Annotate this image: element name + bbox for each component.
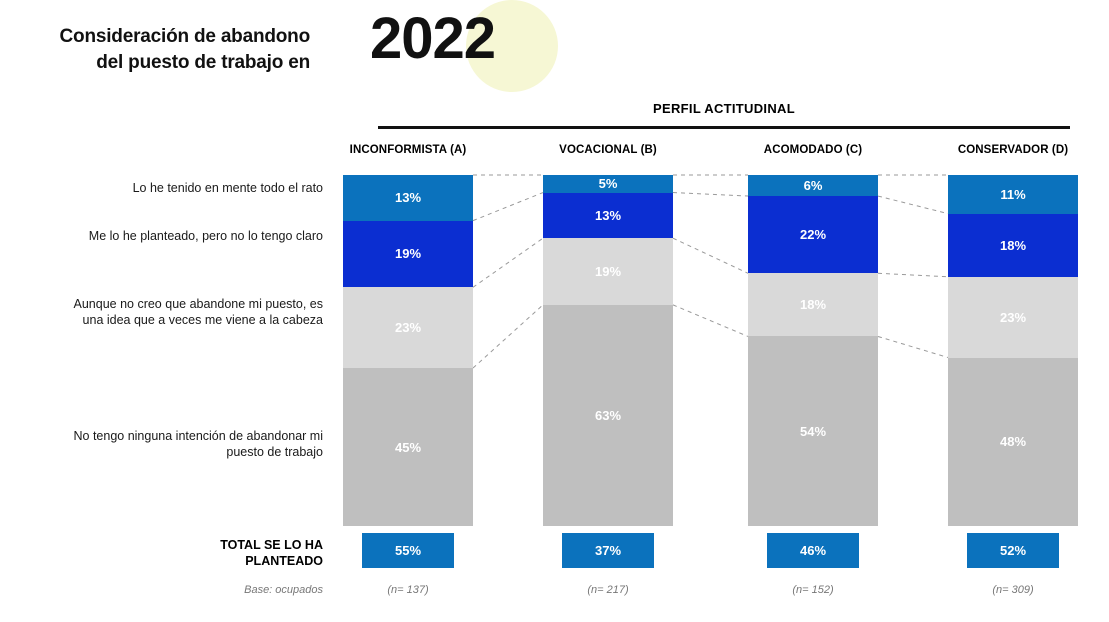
segment-en-mente: 11% xyxy=(948,175,1078,214)
year-label: 2022 xyxy=(370,10,570,68)
page-title: Consideración de abandono del puesto de … xyxy=(0,24,310,75)
group-header-title: PERFIL ACTITUDINAL xyxy=(378,101,1070,116)
segment-planteado: 22% xyxy=(748,196,878,273)
stacked-bar-acomodado: 6%22%18%54% xyxy=(748,175,878,526)
segment-planteado: 13% xyxy=(543,193,673,239)
segment-en-mente: 13% xyxy=(343,175,473,221)
column-header-vocacional: VOCACIONAL (B) xyxy=(508,144,708,156)
segment-sin-intencion: 45% xyxy=(343,368,473,526)
segment-planteado: 19% xyxy=(343,221,473,288)
base-n-conservador: (n= 309) xyxy=(948,584,1078,596)
stacked-bar-vocacional: 5%13%19%63% xyxy=(543,175,673,526)
row-label-me-lo-he-planteado: Me lo he planteado, pero no lo tengo cla… xyxy=(60,228,323,244)
total-row-label-line1: TOTAL SE LO HA xyxy=(220,538,323,552)
segment-sin-intencion: 48% xyxy=(948,358,1078,526)
segment-sin-intencion: 54% xyxy=(748,336,878,526)
total-bar-conservador: 52% xyxy=(967,533,1059,568)
total-bar-vocacional: 37% xyxy=(562,533,654,568)
base-n-inconformista: (n= 137) xyxy=(343,584,473,596)
stacked-bar-conservador: 11%18%23%48% xyxy=(948,175,1078,526)
total-bar-inconformista: 55% xyxy=(362,533,454,568)
segment-idea-a-veces: 23% xyxy=(948,277,1078,358)
column-header-inconformista: INCONFORMISTA (A) xyxy=(308,144,508,156)
base-n-vocacional: (n= 217) xyxy=(543,584,673,596)
base-row-label: Base: ocupados xyxy=(60,584,323,596)
segment-en-mente: 5% xyxy=(543,175,673,193)
segment-planteado: 18% xyxy=(948,214,1078,277)
row-label-idea-a-veces: Aunque no creo que abandone mi puesto, e… xyxy=(60,296,323,328)
segment-en-mente: 6% xyxy=(748,175,878,196)
group-header-rule xyxy=(378,126,1070,129)
segment-idea-a-veces: 23% xyxy=(343,287,473,368)
segment-idea-a-veces: 19% xyxy=(543,238,673,305)
column-header-acomodado: ACOMODADO (C) xyxy=(713,144,913,156)
total-bar-acomodado: 46% xyxy=(767,533,859,568)
stacked-bar-inconformista: 13%19%23%45% xyxy=(343,175,473,526)
total-row-label-line2: PLANTEADO xyxy=(245,554,323,568)
row-label-en-mente-todo-el-rato: Lo he tenido en mente todo el rato xyxy=(60,180,323,196)
segment-sin-intencion: 63% xyxy=(543,305,673,526)
page-title-line1: Consideración de abandono xyxy=(0,24,310,50)
total-row-label: TOTAL SE LO HA PLANTEADO xyxy=(60,538,323,569)
segment-idea-a-veces: 18% xyxy=(748,273,878,336)
page-title-line2: del puesto de trabajo en xyxy=(0,50,310,76)
column-header-conservador: CONSERVADOR (D) xyxy=(913,144,1109,156)
row-label-ninguna-intencion: No tengo ninguna intención de abandonar … xyxy=(60,428,323,460)
base-n-acomodado: (n= 152) xyxy=(748,584,878,596)
